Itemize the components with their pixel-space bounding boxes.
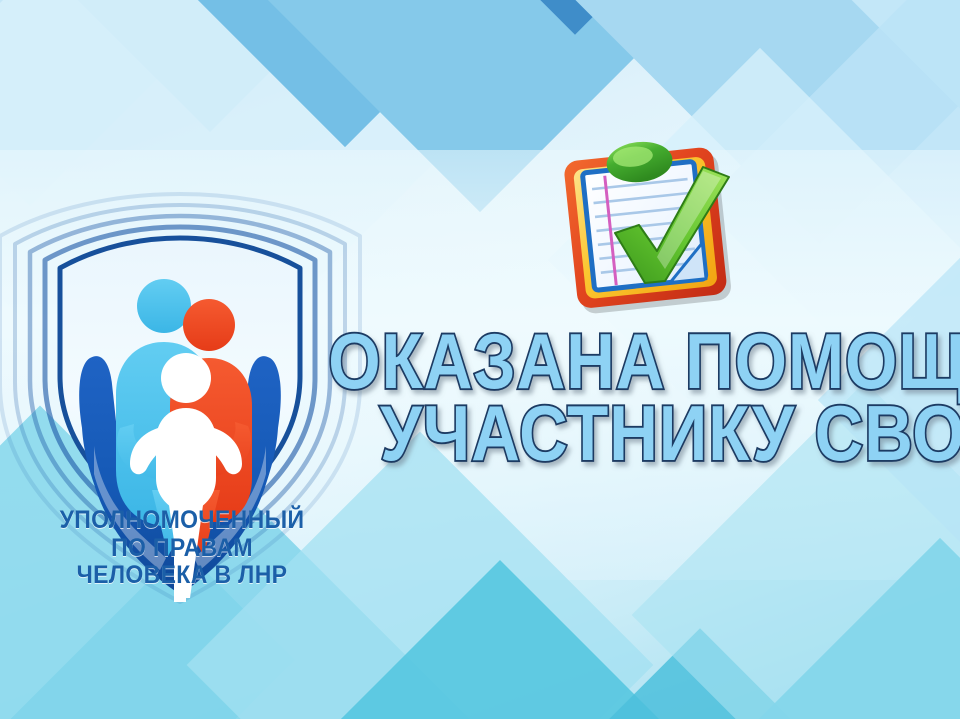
emblem-caption: УПОЛНОМОЧЕННЫЙ ПО ПРАВАМ ЧЕЛОВЕКА В ЛНР <box>0 508 372 589</box>
emblem-caption-line-1: УПОЛНОМОЧЕННЫЙ <box>7 508 357 534</box>
headline-block: ОКАЗАНА ПОМОЩЬ УЧАСТНИКУ СВО <box>375 328 960 498</box>
headline-line-2: УЧАСТНИКУ СВО <box>380 391 960 478</box>
figure-child-body <box>156 408 216 512</box>
emblem-caption-line-3: ЧЕЛОВЕКА В ЛНР <box>7 563 357 589</box>
figure-left-head <box>137 279 191 333</box>
clipboard-with-green-checkmark-icon <box>553 133 753 328</box>
figure-child-head <box>161 353 211 403</box>
figure-right-head <box>183 299 235 351</box>
poster-canvas: УПОЛНОМОЧЕННЫЙ ПО ПРАВАМ ЧЕЛОВЕКА В ЛНР <box>0 0 960 719</box>
emblem-caption-line-2: ПО ПРАВАМ <box>7 536 357 562</box>
